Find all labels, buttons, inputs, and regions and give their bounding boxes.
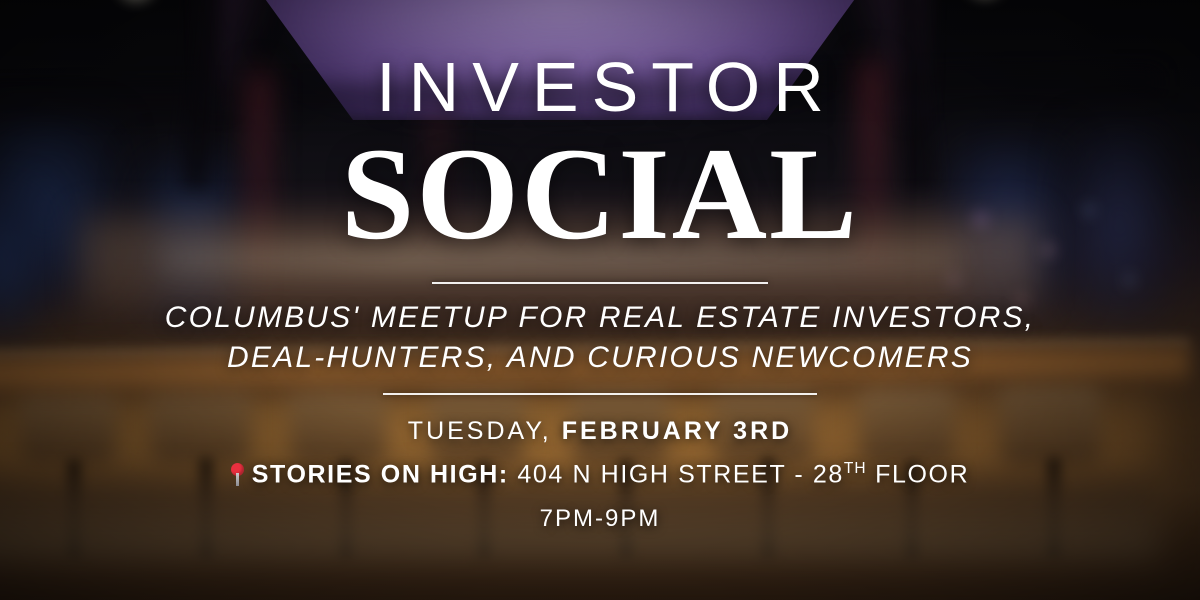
banner-content: INVESTOR SOCIAL COLUMBUS' MEETUP FOR REA… bbox=[0, 0, 1200, 600]
venue-name: STORIES ON HIGH: bbox=[252, 461, 518, 489]
divider-bottom bbox=[383, 393, 817, 395]
venue-floor-suffix: FLOOR bbox=[867, 461, 970, 489]
event-date: TUESDAY, FEBRUARY 3RD bbox=[408, 417, 792, 446]
event-venue: STORIES ON HIGH: 404 N HIGH STREET - 28T… bbox=[231, 460, 970, 489]
event-time: 7PM-9PM bbox=[540, 505, 661, 533]
date-day: FEBRUARY 3RD bbox=[562, 417, 792, 445]
venue-address: 404 N HIGH STREET - 28 bbox=[517, 461, 844, 489]
divider-top bbox=[432, 282, 768, 284]
map-pin-icon bbox=[231, 463, 245, 487]
title-social: SOCIAL bbox=[341, 128, 859, 260]
event-subtitle: COLUMBUS' MEETUP FOR REAL ESTATE INVESTO… bbox=[120, 298, 1080, 377]
venue-floor-ordinal: TH bbox=[844, 460, 867, 477]
title-investor: INVESTOR bbox=[363, 52, 837, 122]
date-weekday: TUESDAY, bbox=[408, 417, 562, 445]
event-banner: INVESTOR SOCIAL COLUMBUS' MEETUP FOR REA… bbox=[0, 0, 1200, 600]
